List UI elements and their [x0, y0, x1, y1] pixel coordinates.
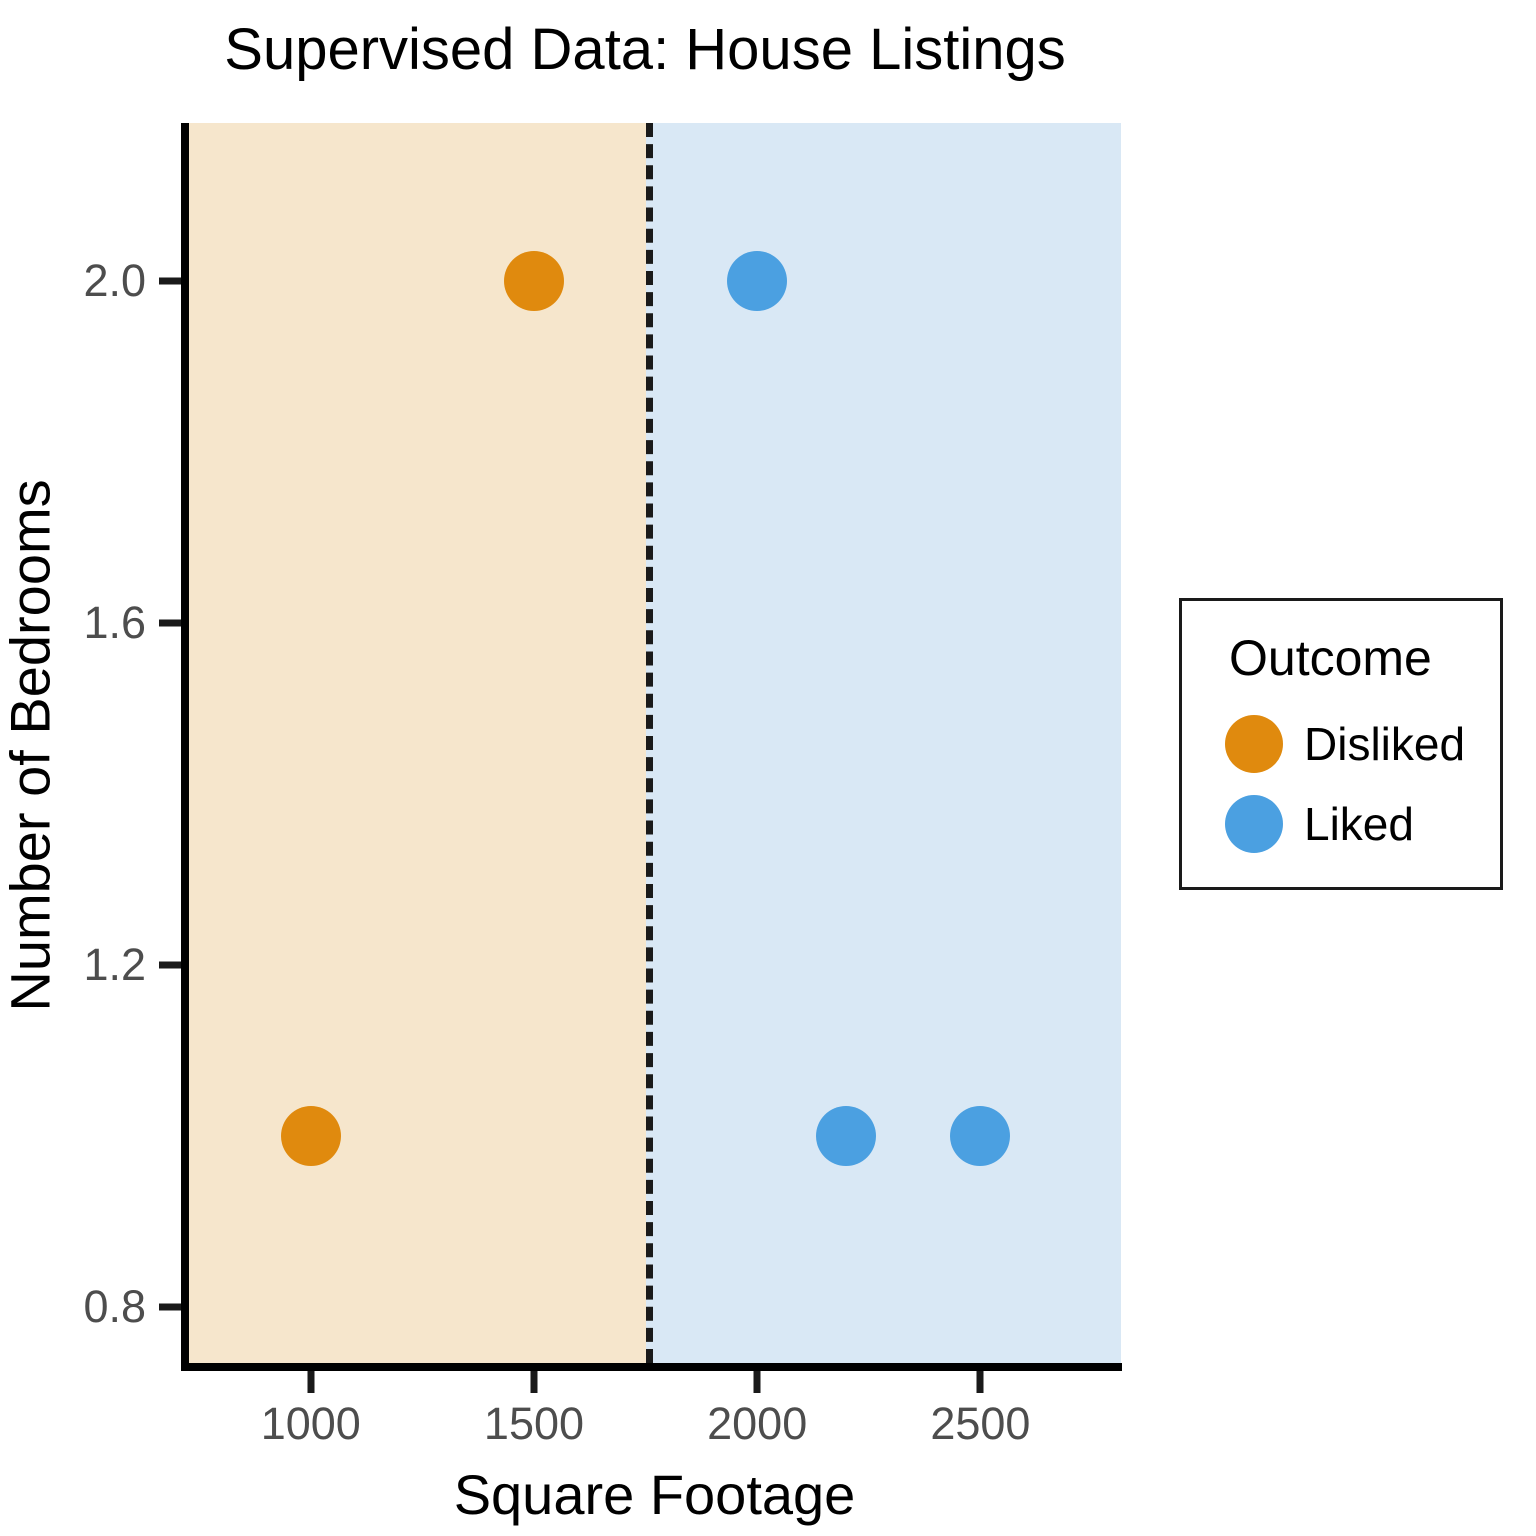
y-axis-line: [181, 123, 189, 1370]
y-axis-tick: [159, 278, 181, 285]
x-axis-tick: [530, 1371, 537, 1393]
x-axis-tick-label: 1000: [261, 1398, 361, 1450]
x-axis-line: [181, 1363, 1122, 1371]
legend-swatch-disliked-icon: [1225, 715, 1283, 773]
y-axis-tick-label: 1.2: [83, 939, 146, 991]
y-axis-tick-label: 0.8: [83, 1281, 146, 1333]
y-axis-tick-label: 2.0: [83, 255, 146, 307]
legend-title: Outcome: [1229, 629, 1432, 687]
x-axis-tick: [977, 1371, 984, 1393]
x-axis-tick: [307, 1371, 314, 1393]
plot-panel: [188, 123, 1121, 1363]
x-axis-tick-label: 1500: [484, 1398, 584, 1450]
legend-entry-disliked[interactable]: Disliked: [1182, 709, 1500, 781]
y-axis-tick: [159, 1304, 181, 1311]
data-point-liked: [727, 251, 787, 311]
legend-label-liked: Liked: [1304, 797, 1414, 851]
decision-region-disliked: [188, 123, 646, 1363]
legend: Outcome Disliked Liked: [1179, 598, 1503, 890]
x-axis-tick-label: 2000: [707, 1398, 807, 1450]
x-axis-tick: [754, 1371, 761, 1393]
x-axis-tick-label: 2500: [930, 1398, 1030, 1450]
y-axis-tick: [159, 962, 181, 969]
decision-boundary-line: [646, 123, 653, 1363]
legend-label-disliked: Disliked: [1304, 717, 1465, 771]
data-point-disliked: [281, 1106, 341, 1166]
y-axis-tick: [159, 620, 181, 627]
decision-region-liked: [646, 123, 1121, 1363]
data-point-liked: [816, 1106, 876, 1166]
legend-entry-liked[interactable]: Liked: [1182, 789, 1500, 861]
page-title: Supervised Data: House Listings: [0, 16, 1290, 83]
data-point-disliked: [504, 251, 564, 311]
y-axis-title: Number of Bedrooms: [0, 126, 63, 1366]
y-axis-tick-label: 1.6: [83, 597, 146, 649]
x-axis-title: Square Footage: [188, 1462, 1121, 1527]
data-point-liked: [950, 1106, 1010, 1166]
legend-swatch-liked-icon: [1225, 795, 1283, 853]
